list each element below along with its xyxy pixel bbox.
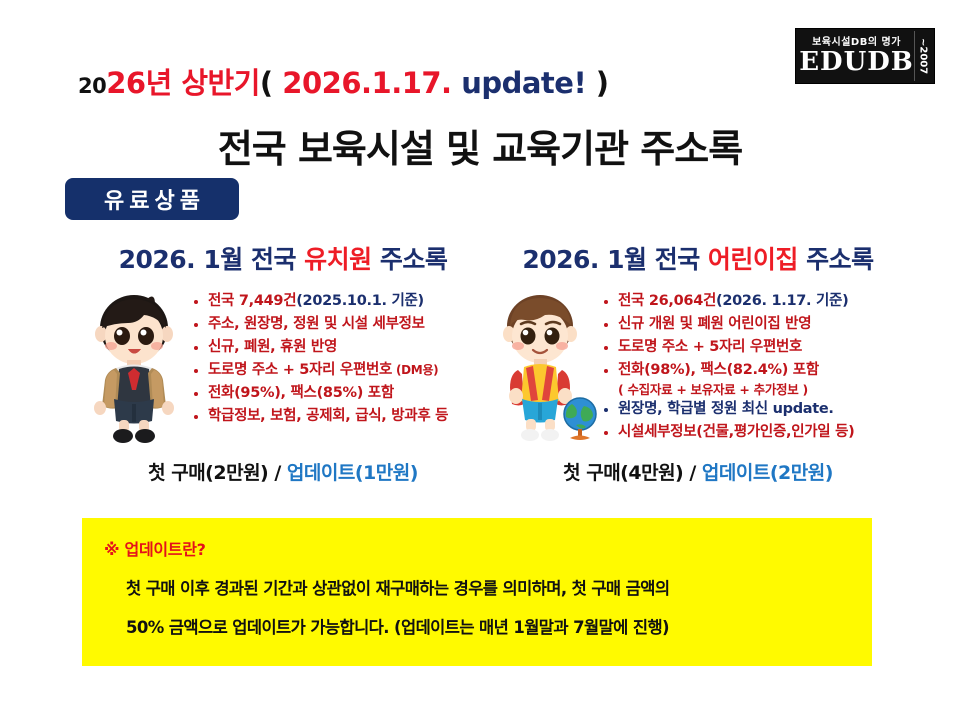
price-first-purchase: 첫 구매(2만원) bbox=[148, 462, 268, 484]
headline-update-date: 2026.1.17. bbox=[282, 66, 451, 100]
notice-heading: ※ 업데이트란? bbox=[104, 536, 850, 560]
list-item: 학급정보, 보험, 공제회, 급식, 방과후 등 bbox=[192, 405, 488, 428]
list-item: 도로명 주소 + 5자리 우편번호 bbox=[602, 336, 908, 359]
bullet-text: 전국 26,064건 bbox=[618, 293, 716, 309]
edudb-logo: 보육시설DB의 명가 EDUDB ~2007 bbox=[795, 28, 935, 84]
headline-year-highlight: 26년 상반기 bbox=[106, 66, 260, 100]
list-item: 신규 개원 및 폐원 어린이집 반영 bbox=[602, 313, 908, 336]
column-kindergarten: 2026. 1월 전국 유치원 주소록 bbox=[78, 240, 488, 446]
price-update: 업데이트(1만원) bbox=[287, 462, 418, 484]
price-separator: / bbox=[268, 462, 287, 484]
daycare-price: 첫 구매(4만원) / 업데이트(2만원) bbox=[488, 458, 908, 485]
kindergarten-feature-list: 전국 7,449건(2025.10.1. 기준) 주소, 원장명, 정원 및 시… bbox=[192, 290, 488, 427]
bullet-text: 원장명, 학급별 정원 최신 update. bbox=[618, 401, 834, 417]
column-daycare-body: 전국 26,064건(2026. 1.17. 기준) 신규 개원 및 폐원 어린… bbox=[488, 286, 908, 460]
headline-paren-open: ( bbox=[260, 66, 282, 100]
notice-line-2: 50% 금액으로 업데이트가 가능합니다. (업데이트는 매년 1월말과 7월말… bbox=[126, 614, 850, 638]
list-item: 주소, 원장명, 정원 및 시설 세부정보 bbox=[192, 313, 488, 336]
notice-line-1: 첫 구매 이후 경과된 기간과 상관없이 재구매하는 경우를 의미하며, 첫 구… bbox=[126, 575, 850, 599]
logo-year: ~2007 bbox=[914, 31, 931, 81]
headline: 2026년 상반기( 2026.1.17. update! ) bbox=[78, 60, 609, 102]
page-title: 전국 보육시설 및 교육기관 주소록 bbox=[0, 118, 960, 173]
bullet-text: 전화(95%), 팩스(85%) 포함 bbox=[208, 385, 394, 401]
headline-year-prefix: 20 bbox=[78, 74, 106, 98]
kindergarten-price: 첫 구매(2만원) / 업데이트(1만원) bbox=[78, 458, 488, 485]
column-kindergarten-title: 2026. 1월 전국 유치원 주소록 bbox=[78, 240, 488, 276]
col1-title-highlight: 어린이집 bbox=[708, 245, 798, 274]
logo-wordmark: EDUDB bbox=[799, 49, 914, 75]
bullet-subtext: ( 수집자료 + 보유자료 + 추가정보 ) bbox=[602, 382, 908, 398]
bullet-text: 도로명 주소 + 5자리 우편번호 bbox=[618, 339, 802, 355]
reference-mark-icon: ※ bbox=[104, 540, 125, 559]
col0-title-suffix: 주소록 bbox=[372, 245, 448, 274]
list-item: 전국 26,064건(2026. 1.17. 기준) bbox=[602, 290, 908, 313]
col1-title-suffix: 주소록 bbox=[798, 245, 874, 274]
backpack-boy-with-globe-icon bbox=[488, 286, 600, 446]
list-item: 도로명 주소 + 5자리 우편번호 (DM용) bbox=[192, 359, 488, 382]
daycare-feature-list: 전국 26,064건(2026. 1.17. 기준) 신규 개원 및 폐원 어린… bbox=[602, 290, 908, 444]
bullet-text: 주소, 원장명, 정원 및 시설 세부정보 bbox=[208, 316, 425, 332]
bullet-tail: (2025.10.1. 기준) bbox=[296, 293, 424, 309]
paid-product-badge: 유료상품 bbox=[65, 178, 239, 220]
bullet-text: 신규, 폐원, 휴원 반영 bbox=[208, 339, 337, 355]
column-daycare-title: 2026. 1월 전국 어린이집 주소록 bbox=[488, 240, 908, 276]
column-daycare: 2026. 1월 전국 어린이집 주소록 bbox=[488, 240, 908, 460]
col0-title-prefix: 2026. 1월 전국 bbox=[119, 245, 305, 274]
list-item: 전국 7,449건(2025.10.1. 기준) bbox=[192, 290, 488, 313]
headline-update-word: update! bbox=[452, 66, 587, 100]
notice-heading-text: 업데이트란? bbox=[125, 540, 206, 559]
bullet-text: 학급정보, 보험, 공제회, 급식, 방과후 등 bbox=[208, 408, 448, 424]
list-item: 전화(95%), 팩스(85%) 포함 bbox=[192, 382, 488, 405]
price-first-purchase: 첫 구매(4만원) bbox=[563, 462, 683, 484]
list-item: 시설세부정보(건물,평가인증,인가일 등) bbox=[602, 421, 908, 444]
list-item: 신규, 폐원, 휴원 반영 bbox=[192, 336, 488, 359]
headline-paren-close: ) bbox=[586, 66, 608, 100]
list-item: 원장명, 학급별 정원 최신 update. bbox=[602, 398, 908, 421]
logo-main: 보육시설DB의 명가 EDUDB bbox=[799, 31, 914, 81]
col0-title-highlight: 유치원 bbox=[304, 245, 372, 274]
bullet-text: 시설세부정보(건물,평가인증,인가일 등) bbox=[618, 424, 854, 440]
bullet-tail: (DM용) bbox=[392, 363, 438, 377]
logo-tagline: 보육시설DB의 명가 bbox=[812, 38, 901, 48]
schoolboy-uniform-icon bbox=[78, 286, 190, 446]
col1-title-prefix: 2026. 1월 전국 bbox=[522, 245, 708, 274]
price-update: 업데이트(2만원) bbox=[702, 462, 833, 484]
bullet-text: 전화(98%), 팩스(82.4%) 포함 bbox=[618, 362, 819, 378]
poster-page: 보육시설DB의 명가 EDUDB ~2007 2026년 상반기( 2026.1… bbox=[0, 0, 960, 720]
bullet-text: 신규 개원 및 폐원 어린이집 반영 bbox=[618, 316, 811, 332]
bullet-tail: (2026. 1.17. 기준) bbox=[716, 293, 848, 309]
bullet-text: 전국 7,449건 bbox=[208, 293, 296, 309]
bullet-text: 도로명 주소 + 5자리 우편번호 bbox=[208, 362, 392, 378]
price-separator: / bbox=[683, 462, 702, 484]
column-kindergarten-body: 전국 7,449건(2025.10.1. 기준) 주소, 원장명, 정원 및 시… bbox=[78, 286, 488, 446]
list-item: 전화(98%), 팩스(82.4%) 포함 bbox=[602, 359, 908, 382]
update-notice-box: ※ 업데이트란? 첫 구매 이후 경과된 기간과 상관없이 재구매하는 경우를 … bbox=[82, 518, 872, 666]
